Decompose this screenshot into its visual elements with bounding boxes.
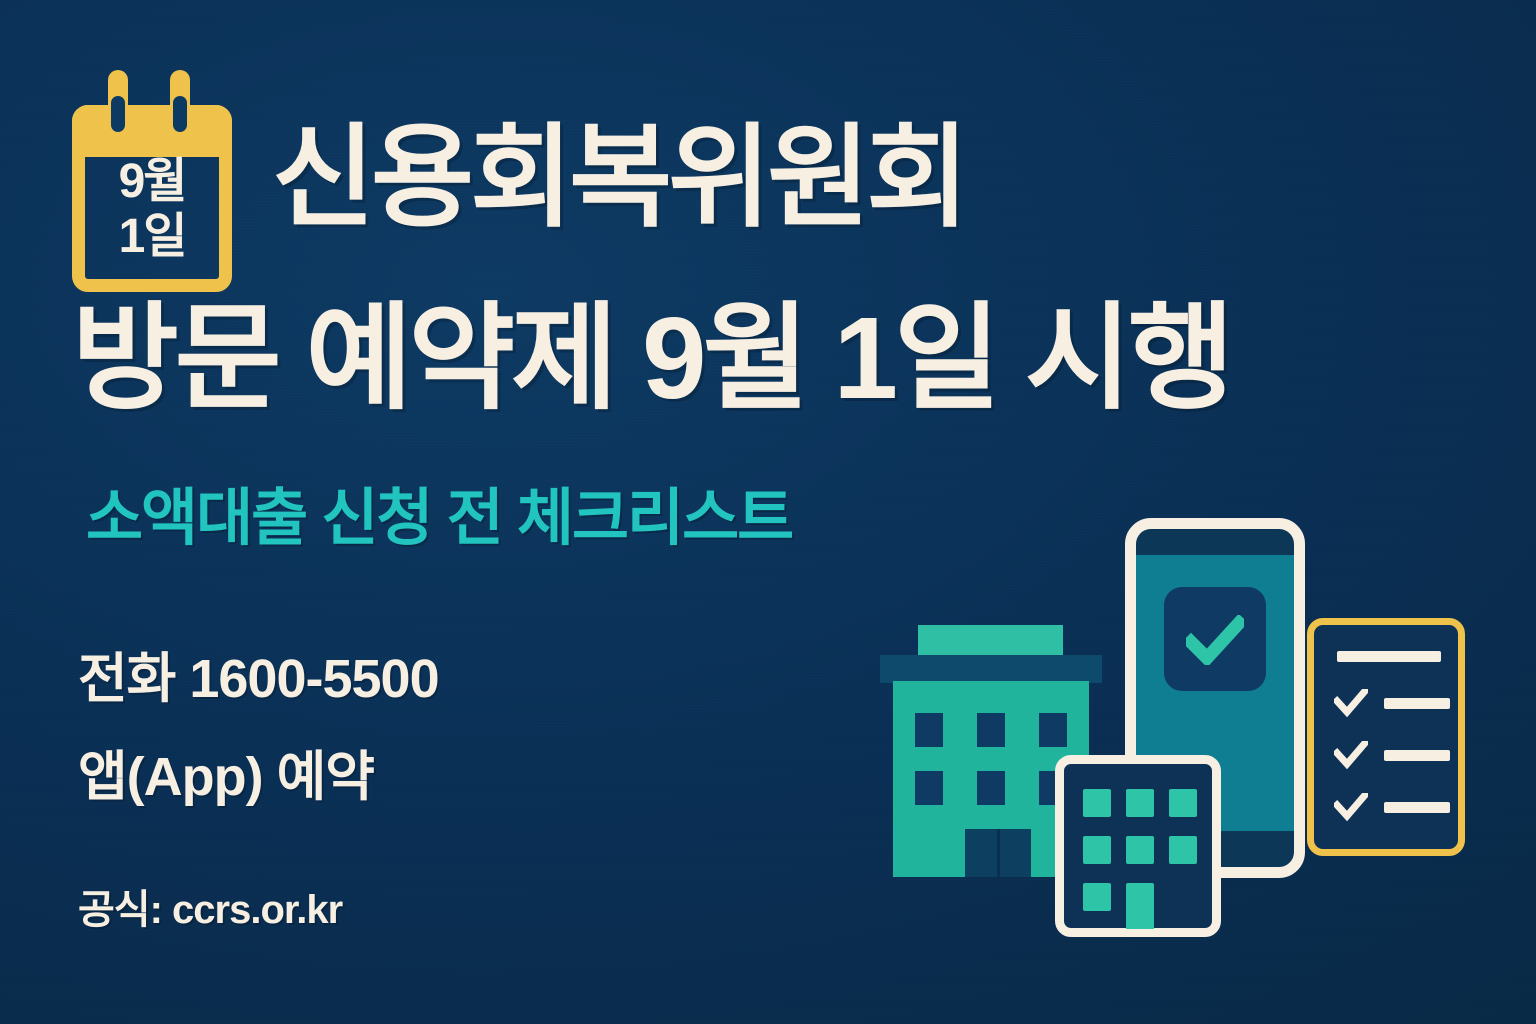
checklist-row xyxy=(1334,689,1452,717)
calendar-ring-hole-right xyxy=(173,96,187,132)
branch-window xyxy=(1126,836,1154,864)
calendar-body: 9월 1일 xyxy=(72,105,232,292)
illustration-group xyxy=(860,490,1500,960)
check-icon xyxy=(1334,793,1368,821)
calendar-date-text: 9월 1일 xyxy=(72,158,232,262)
calendar-header-bar xyxy=(72,105,232,157)
building-window xyxy=(977,713,1005,747)
headline-line-1: 신용회복위원회 xyxy=(272,122,965,234)
calendar-ring-hole-left xyxy=(111,96,125,132)
official-website-line: 공식: ccrs.or.kr xyxy=(78,890,342,930)
branch-door xyxy=(1126,883,1154,929)
building-window xyxy=(1039,713,1067,747)
branch-window xyxy=(1169,836,1197,864)
check-icon xyxy=(1334,741,1368,769)
checklist-row xyxy=(1334,793,1452,821)
building-window xyxy=(915,771,943,805)
contact-phone-line: 전화 1600-5500 xyxy=(78,652,439,706)
branch-window xyxy=(1169,789,1197,817)
subtitle-text: 소액대출 신청 전 체크리스트 xyxy=(86,488,792,550)
check-icon xyxy=(1334,689,1368,717)
check-icon xyxy=(1186,615,1244,665)
building-door-split xyxy=(997,829,1000,877)
branch-window xyxy=(1083,836,1111,864)
checklist-item-line xyxy=(1384,750,1450,761)
building-window xyxy=(977,771,1005,805)
checklist-title-line xyxy=(1337,651,1441,662)
calendar-day-label: 1일 xyxy=(72,213,232,262)
branch-window xyxy=(1083,789,1111,817)
checklist-row xyxy=(1334,741,1452,769)
headline-line-2: 방문 예약제 9월 1일 시행 xyxy=(72,300,1230,416)
calendar-month-label: 9월 xyxy=(72,158,232,207)
contact-app-line: 앱(App) 예약 xyxy=(78,750,439,804)
poster-canvas: 9월 1일 신용회복위원회 방문 예약제 9월 1일 시행 소액대출 신청 전 … xyxy=(0,0,1536,1024)
building-roof-cap xyxy=(918,625,1063,659)
branch-window xyxy=(1126,789,1154,817)
checklist-item-line xyxy=(1384,802,1450,813)
branch-window xyxy=(1083,883,1111,911)
branch-building-icon xyxy=(1055,755,1221,937)
building-window xyxy=(915,713,943,747)
calendar-badge: 9월 1일 xyxy=(72,70,232,292)
checklist-card-icon xyxy=(1307,618,1465,856)
contact-block: 전화 1600-5500 앱(App) 예약 xyxy=(78,652,439,804)
checklist-item-line xyxy=(1384,698,1450,709)
building-roof-band xyxy=(880,655,1102,683)
